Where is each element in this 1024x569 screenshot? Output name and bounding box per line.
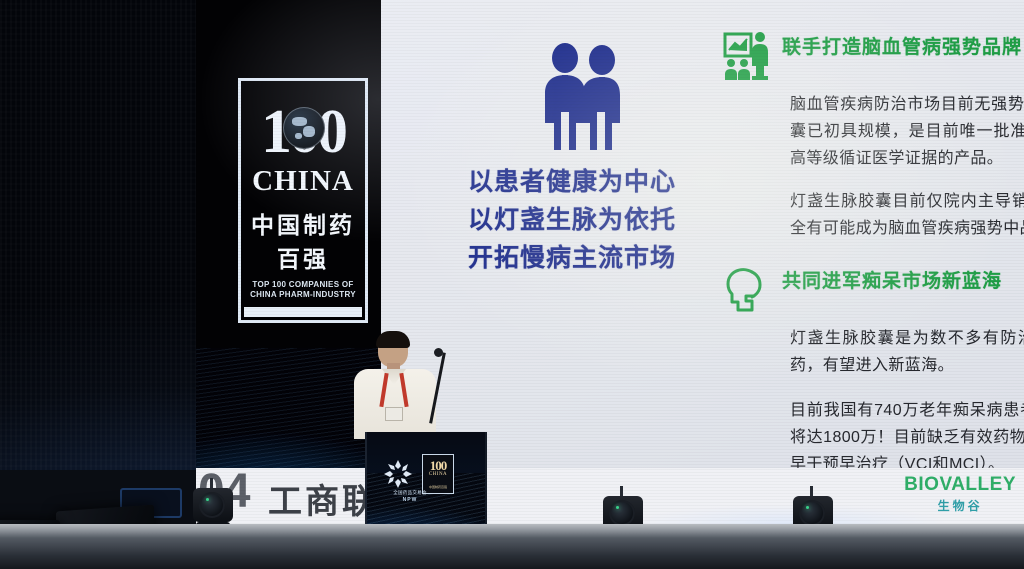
globe-icon [283,107,325,149]
stage-floor-edge-highlight [0,524,1024,538]
section-1-paragraph-2: 灯盏生脉胶囊目前仅院内主导销量已近5亿元规模，完全有可能成为脑血管疾病强势中品牌… [790,189,1024,243]
event-logo-frame: 100 CHINA 中国制药百强 TOP 100 COMPANIES OF CH… [238,78,368,323]
slogan-line-1: 以患者健康为中心 [468,163,708,201]
logo-chinese-name: 中国制药百强 [241,206,365,274]
logo-country: CHINA [241,165,365,198]
section-1-paragraph-1: 脑血管疾病防治市场目前无强势中药品种，灯盏生脉胶囊已初具规模，是目前唯一批准用于… [790,92,1024,173]
head-profile-icon [722,264,770,316]
presentation-stage-photo: 100 CHINA 中国制药百强 TOP 100 COMPANIES OF CH… [0,0,1024,569]
logo-english-line1: TOP 100 COMPANIES OF [252,280,353,289]
slogan-line-3: 开拓慢病主流市场 [468,239,708,277]
speaker-person [352,333,438,437]
podium-100-logo: 100 CHINA 中国制药百强 [422,454,454,494]
logo-english-line2: CHINA PHARM-INDUSTRY [250,290,356,299]
section-2-paragraph-2: 目前我国有740万老年痴呆病患者，到2030年痴呆病人将达1800万！目前缺乏有… [790,398,1024,479]
section-1-header: 联手打造脑血管病强势品牌 [722,30,1024,82]
npw-mark-cn: 全国药品交易会 [387,490,433,496]
two-businesspeople-icon [532,42,636,150]
presentation-icon [722,30,770,82]
led-presentation-screen: 100 CHINA 中国制药百强 TOP 100 COMPANIES OF CH… [196,0,1024,498]
slogan-line-2: 以灯盏生脉为依托 [468,201,708,239]
logo-english-name: TOP 100 COMPANIES OF CHINA PHARM-INDUSTR… [245,280,361,300]
section-1-title: 联手打造脑血管病强势品牌 [782,30,1022,63]
sponsor-name: BIOVALLEY [904,474,1016,496]
logo-base-bar [244,307,362,317]
slogan-block: 以患者健康为中心 以灯盏生脉为依托 开拓慢病主流市场 [468,163,708,277]
speaker-hair [376,331,410,348]
podium-logo-country: CHINA [423,472,453,477]
npw-mark-en: NPW [387,497,433,503]
podium-logo-group: 100 CHINA 中国制药百强 全国药品交易会 NPW [381,454,454,494]
section-2-paragraph-1: 灯盏生脉胶囊是为数不多有防治老年痴呆适应症的中药，有望进入新蓝海。 [790,326,1024,380]
section-2-header: 共同进军痴呆市场新蓝海 [722,264,1024,316]
npw-mark-icon [381,457,415,491]
section-2-title: 共同进军痴呆市场新蓝海 [782,264,1002,297]
microphone-head [434,348,443,357]
speaker-badge [385,407,403,421]
